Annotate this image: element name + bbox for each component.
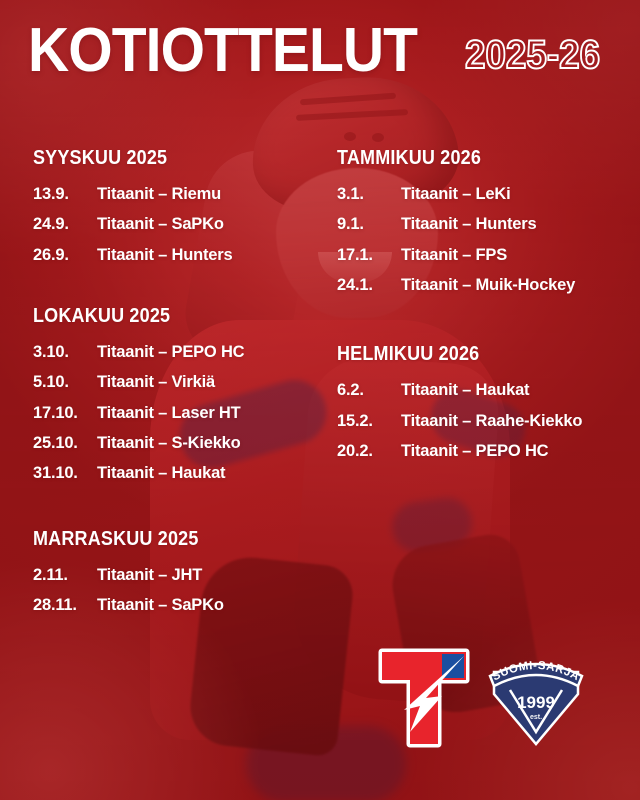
schedule-column-right: TAMMIKUU 2026 3.1. Titaanit – LeKi 9.1. … xyxy=(320,148,640,614)
match-date: 25.10. xyxy=(33,435,97,452)
match-date: 2.11. xyxy=(33,567,97,584)
match-teams: Titaanit – PEPO HC xyxy=(97,344,244,361)
shield-est-label: est. xyxy=(530,714,542,721)
match-date: 9.1. xyxy=(337,216,401,233)
month-heading-helmikuu: HELMIKUU 2026 xyxy=(337,344,604,364)
match-row: 3.1. Titaanit – LeKi xyxy=(337,186,634,203)
schedule-columns: SYYSKUU 2025 13.9. Titaanit – Riemu 24.9… xyxy=(0,148,640,614)
match-row: 26.9. Titaanit – Hunters xyxy=(33,247,314,264)
title-main-text: KOTIOTTELUT xyxy=(28,20,417,82)
match-row: 5.10. Titaanit – Virkiä xyxy=(33,374,314,391)
suomi-sarja-shield-logo: SUOMI-SARJA 1999 est. xyxy=(484,646,588,750)
match-teams: Titaanit – SaPKo xyxy=(97,597,224,614)
match-row: 3.10. Titaanit – PEPO HC xyxy=(33,344,314,361)
match-date: 6.2. xyxy=(337,382,401,399)
match-date: 13.9. xyxy=(33,186,97,203)
match-teams: Titaanit – FPS xyxy=(401,247,507,264)
match-teams: Titaanit – Hunters xyxy=(97,247,232,264)
match-row: 25.10. Titaanit – S-Kiekko xyxy=(33,435,314,452)
match-row: 9.1. Titaanit – Hunters xyxy=(337,216,634,233)
match-teams: Titaanit – SaPKo xyxy=(97,216,224,233)
match-date: 20.2. xyxy=(337,443,401,460)
month-heading-syyskuu: SYYSKUU 2025 xyxy=(33,148,286,168)
month-heading-lokakuu: LOKAKUU 2025 xyxy=(33,306,286,326)
match-date: 24.1. xyxy=(337,277,401,294)
match-row: 17.10. Titaanit – Laser HT xyxy=(33,405,314,422)
match-teams: Titaanit – Laser HT xyxy=(97,405,241,422)
schedule-column-left: SYYSKUU 2025 13.9. Titaanit – Riemu 24.9… xyxy=(0,148,320,614)
match-row: 31.10. Titaanit – Haukat xyxy=(33,465,314,482)
match-row: 15.2. Titaanit – Raahe-Kiekko xyxy=(337,413,634,430)
match-teams: Titaanit – Raahe-Kiekko xyxy=(401,413,582,430)
match-teams: Titaanit – LeKi xyxy=(401,186,510,203)
match-row: 13.9. Titaanit – Riemu xyxy=(33,186,314,203)
match-date: 3.1. xyxy=(337,186,401,203)
match-date: 17.1. xyxy=(337,247,401,264)
match-teams: Titaanit – Muik-Hockey xyxy=(401,277,575,294)
match-date: 5.10. xyxy=(33,374,97,391)
match-row: 2.11. Titaanit – JHT xyxy=(33,567,314,584)
match-date: 17.10. xyxy=(33,405,97,422)
month-heading-marraskuu: MARRASKUU 2025 xyxy=(33,529,286,549)
match-teams: Titaanit – Hunters xyxy=(401,216,536,233)
match-teams: Titaanit – PEPO HC xyxy=(401,443,548,460)
match-row: 28.11. Titaanit – SaPKo xyxy=(33,597,314,614)
match-teams: Titaanit – Riemu xyxy=(97,186,221,203)
logo-group: SUOMI-SARJA 1999 est. xyxy=(376,646,588,750)
match-teams: Titaanit – S-Kiekko xyxy=(97,435,241,452)
match-date: 31.10. xyxy=(33,465,97,482)
home-games-poster: KOTIOTTELUT 2025-26 SYYSKUU 2025 13.9. T… xyxy=(0,0,640,800)
month-block-helmikuu: HELMIKUU 2026 6.2. Titaanit – Haukat 15.… xyxy=(337,344,634,460)
match-teams: Titaanit – Haukat xyxy=(97,465,225,482)
match-teams: Titaanit – JHT xyxy=(97,567,202,584)
month-block-tammikuu: TAMMIKUU 2026 3.1. Titaanit – LeKi 9.1. … xyxy=(337,148,634,294)
month-block-lokakuu: LOKAKUU 2025 3.10. Titaanit – PEPO HC 5.… xyxy=(33,306,314,483)
month-block-marraskuu: MARRASKUU 2025 2.11. Titaanit – JHT 28.1… xyxy=(33,529,314,615)
poster-title: KOTIOTTELUT 2025-26 xyxy=(0,20,640,82)
match-date: 28.11. xyxy=(33,597,97,614)
title-season-text: 2025-26 xyxy=(465,35,600,75)
match-row: 20.2. Titaanit – PEPO HC xyxy=(337,443,634,460)
match-teams: Titaanit – Haukat xyxy=(401,382,529,399)
match-date: 26.9. xyxy=(33,247,97,264)
month-heading-tammikuu: TAMMIKUU 2026 xyxy=(337,148,604,168)
match-teams: Titaanit – Virkiä xyxy=(97,374,215,391)
match-row: 17.1. Titaanit – FPS xyxy=(337,247,634,264)
match-row: 6.2. Titaanit – Haukat xyxy=(337,382,634,399)
match-date: 24.9. xyxy=(33,216,97,233)
month-block-syyskuu: SYYSKUU 2025 13.9. Titaanit – Riemu 24.9… xyxy=(33,148,314,264)
match-date: 3.10. xyxy=(33,344,97,361)
titaanit-t-logo xyxy=(376,646,472,750)
match-row: 24.1. Titaanit – Muik-Hockey xyxy=(337,277,634,294)
match-row: 24.9. Titaanit – SaPKo xyxy=(33,216,314,233)
match-date: 15.2. xyxy=(337,413,401,430)
shield-year: 1999 xyxy=(517,693,555,712)
